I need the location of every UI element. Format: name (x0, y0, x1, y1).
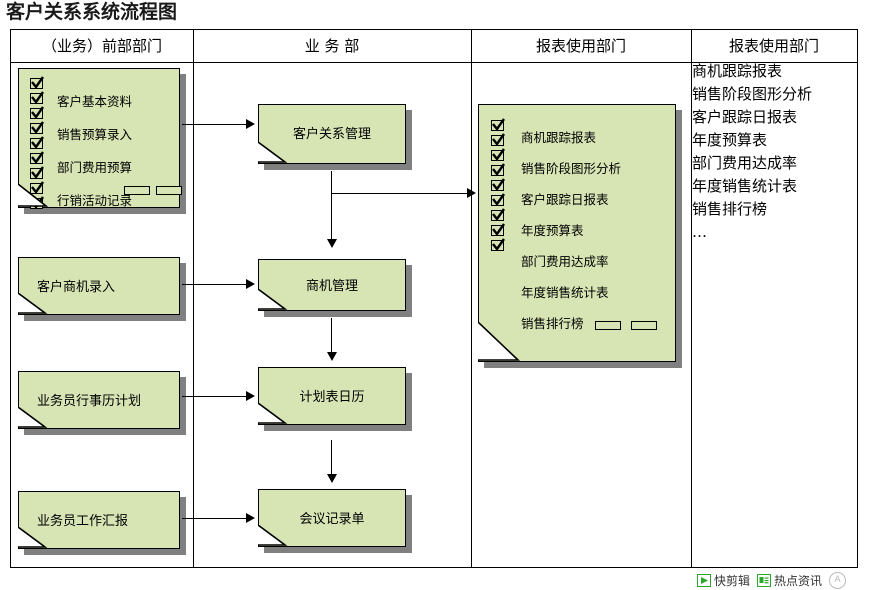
checkbox-icon[interactable] (30, 108, 43, 119)
checklist-item-label: 客户基本资料 (57, 91, 132, 110)
doc-button-1[interactable] (124, 186, 150, 195)
column-divider-2 (471, 30, 472, 567)
process-box-opportunity-management[interactable]: 商机管理 (258, 259, 406, 311)
folded-corner-icon (18, 293, 48, 315)
process-box-meeting-record[interactable]: 会议记录单 (258, 489, 406, 547)
connector-line-cal-down (331, 440, 332, 474)
connector-arrow-4 (246, 513, 255, 523)
connector-arrow-crm-down (327, 239, 337, 248)
column-header-report-user-department: 报表使用部门 (471, 30, 691, 62)
connector-line-1 (182, 124, 246, 125)
connector-line-opp-down (331, 318, 332, 352)
checklist-item-label: 商机跟踪报表 (521, 127, 621, 146)
checkbox-icon[interactable] (491, 180, 504, 191)
connector-arrow-1 (246, 119, 255, 129)
connector-arrow-cal-down (327, 474, 337, 483)
page-title: 客户关系系统流程图 (6, 0, 177, 24)
process-box-salesperson-work-report[interactable]: 业务员工作汇报 (18, 491, 180, 549)
checkbox-icon[interactable] (491, 240, 504, 251)
checklist-item-label: 销售预算录入 (57, 124, 132, 143)
overlay-item-quick-edit[interactable]: 快剪辑 (697, 572, 750, 589)
doc-button-2[interactable] (156, 186, 182, 195)
column-divider-1 (193, 30, 194, 567)
connector-line-crm-down (331, 171, 332, 239)
folded-corner-icon (478, 322, 520, 362)
overlay-item-hot-news[interactable]: 热点资讯 (757, 572, 822, 589)
checklist-document-front-department[interactable]: 客户基本资料销售预算录入部门费用预算行销活动记录 (18, 68, 180, 208)
play-clip-icon (697, 574, 711, 587)
folded-corner-icon (258, 525, 288, 547)
checkbox-column (491, 120, 504, 255)
process-box-crm[interactable]: 客户关系管理 (258, 104, 406, 164)
checkbox-icon[interactable] (491, 120, 504, 131)
column-header-front-department: （业务）前部部门 (11, 30, 193, 62)
checklist-item-label: 年度预算表 (521, 220, 621, 239)
report-list-item: 客户跟踪日报表 (692, 106, 812, 129)
folded-corner-icon (18, 407, 48, 429)
checkbox-icon[interactable] (30, 93, 43, 104)
checklist-item-label: 部门费用预算 (57, 157, 132, 176)
report-list-item: 销售排行榜 (692, 198, 812, 221)
checkbox-icon[interactable] (491, 135, 504, 146)
checklist-item-label: 销售阶段图形分析 (521, 158, 621, 177)
column-header-report-user-department-2: 报表使用部门 (691, 30, 857, 62)
overlay-label-quick-edit: 快剪辑 (714, 572, 750, 589)
checklist-document-reports[interactable]: 商机跟踪报表销售阶段图形分析客户跟踪日报表年度预算表部门费用达成率年度销售统计表… (478, 104, 676, 362)
report-list-item: 部门费用达成率 (692, 152, 812, 175)
checklist-items: 商机跟踪报表销售阶段图形分析客户跟踪日报表年度预算表部门费用达成率年度销售统计表… (521, 127, 621, 332)
folded-corner-icon (18, 184, 48, 208)
checkbox-icon[interactable] (30, 168, 43, 179)
checkbox-icon[interactable] (30, 153, 43, 164)
folded-corner-icon (258, 289, 288, 311)
process-box-schedule-calendar[interactable]: 计划表日历 (258, 367, 406, 425)
process-box-salesperson-calendar-plan[interactable]: 业务员行事历计划 (18, 371, 180, 429)
connector-line-4 (182, 518, 246, 519)
checkbox-icon[interactable] (491, 150, 504, 161)
process-box-customer-opportunity-entry[interactable]: 客户商机录入 (18, 257, 180, 315)
report-list-item: 年度销售统计表 (692, 175, 812, 198)
checkbox-icon[interactable] (30, 138, 43, 149)
folded-corner-icon (18, 527, 48, 549)
connector-arrow-crm-to-reports (467, 188, 476, 198)
checkbox-icon[interactable] (30, 78, 43, 89)
column-header-business-department: 业 务 部 (193, 30, 471, 62)
report-name-list: 商机跟踪报表销售阶段图形分析客户跟踪日报表年度预算表部门费用达成率年度销售统计表… (692, 60, 812, 244)
connector-line-2 (182, 284, 246, 285)
report-list-item: 销售阶段图形分析 (692, 83, 812, 106)
report-list-item: 年度预算表 (692, 129, 812, 152)
overlay-round-badge[interactable]: A (829, 572, 846, 589)
connector-arrow-2 (246, 279, 255, 289)
checkbox-icon[interactable] (491, 210, 504, 221)
overlay-toolbar[interactable]: 快剪辑 热点资讯 A (697, 570, 846, 590)
doc-button-1[interactable] (595, 321, 621, 330)
connector-line-3 (182, 396, 246, 397)
report-list-item: 商机跟踪报表 (692, 60, 812, 83)
news-icon (757, 574, 771, 587)
overlay-label-hot-news: 热点资讯 (774, 572, 822, 589)
checklist-item-label: 年度销售统计表 (521, 282, 621, 301)
checkbox-icon[interactable] (30, 123, 43, 134)
doc-button-2[interactable] (631, 321, 657, 330)
report-list-item: … (692, 221, 812, 244)
checklist-item-label: 行销活动记录 (57, 190, 132, 209)
connector-arrow-3 (246, 391, 255, 401)
connector-line-crm-to-reports (331, 193, 467, 194)
checkbox-icon[interactable] (491, 165, 504, 176)
folded-corner-icon (258, 142, 288, 164)
checklist-items: 客户基本资料销售预算录入部门费用预算行销活动记录 (57, 91, 132, 209)
folded-corner-icon (258, 403, 288, 425)
checklist-item-label: 客户跟踪日报表 (521, 189, 621, 208)
checklist-item-label: 部门费用达成率 (521, 251, 621, 270)
connector-arrow-opp-down (327, 352, 337, 361)
checkbox-icon[interactable] (491, 225, 504, 236)
checkbox-icon[interactable] (491, 195, 504, 206)
box-label: 客户关系管理 (259, 123, 405, 142)
